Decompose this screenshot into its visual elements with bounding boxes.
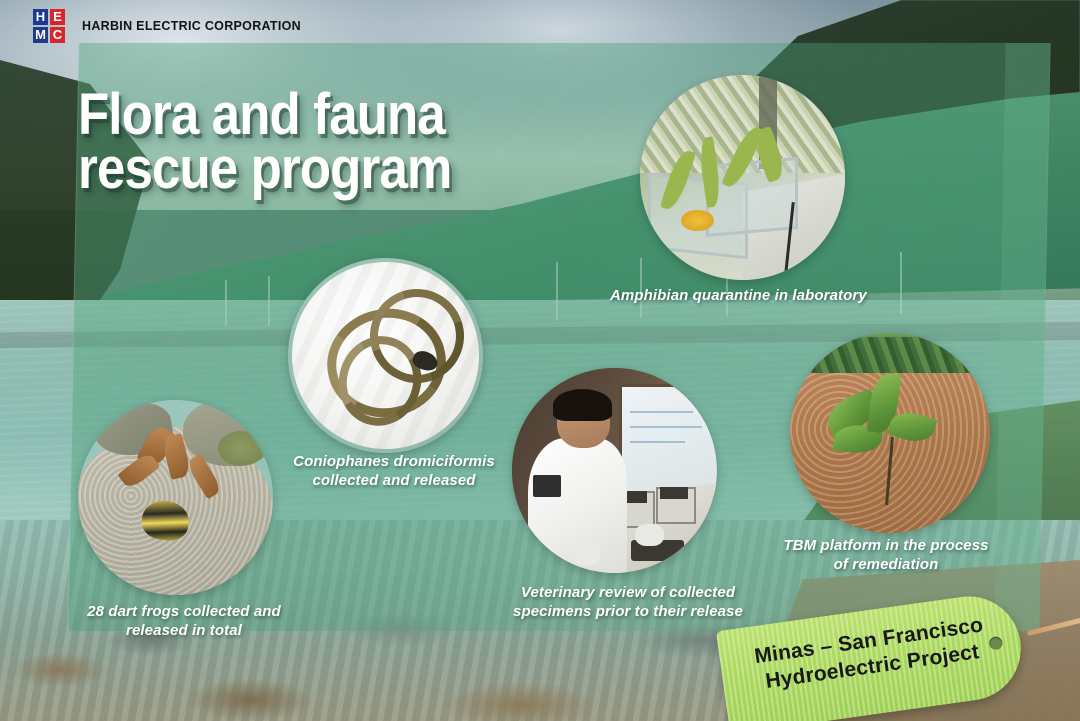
- dart-frog-photo: [78, 400, 273, 595]
- logo-letter: H: [33, 9, 48, 25]
- vet-gloved-hand: [574, 540, 601, 565]
- logo-cell-bottom-left: M: [33, 27, 48, 43]
- caption-snake: Coniophanes dromiciformis collected and …: [268, 452, 520, 490]
- lab-terrarium-tank: [706, 157, 798, 237]
- frog-moss: [218, 431, 265, 466]
- tag-label: Minas – San Francisco Hydroelectric Proj…: [742, 611, 999, 698]
- logo-letter: C: [50, 27, 65, 43]
- vet-badge: [533, 475, 562, 498]
- slide-canvas: H E M C HARBIN ELECTRIC CORPORATION Flor…: [0, 0, 1080, 721]
- whiteboard-writing: [630, 441, 685, 443]
- caption-amphibian-quarantine: Amphibian quarantine in laboratory: [610, 286, 910, 305]
- logo-cell-top-right: E: [50, 9, 65, 25]
- container-lid: [660, 487, 689, 499]
- whiteboard-writing: [630, 411, 694, 413]
- tbm-platform-seedling-photo: [790, 333, 990, 533]
- vet-whiteboard: [619, 384, 717, 497]
- page-title: Flora and fauna rescue program: [78, 88, 536, 196]
- vet-gloved-hand: [635, 524, 664, 547]
- brand-name: HARBIN ELECTRIC CORPORATION: [82, 19, 301, 33]
- caption-tbm-platform: TBM platform in the process of remediati…: [760, 536, 1012, 574]
- logo-cell-bottom-right: C: [50, 27, 65, 43]
- caption-veterinary-review: Veterinary review of collected specimens…: [488, 583, 768, 621]
- vet-hair: [553, 389, 612, 422]
- caption-dart-frogs: 28 dart frogs collected and released in …: [48, 602, 320, 640]
- amphibian-quarantine-photo: [640, 75, 845, 280]
- logo-letter: M: [33, 27, 48, 43]
- logo-letter: E: [50, 9, 65, 25]
- veterinary-review-photo: [512, 368, 717, 573]
- header-bar: H E M C HARBIN ELECTRIC CORPORATION: [0, 0, 1080, 43]
- seed-background-trees: [802, 337, 978, 377]
- lab-orchid-bloom: [681, 210, 714, 231]
- whiteboard-writing: [630, 426, 702, 428]
- logo-cell-top-left: H: [33, 9, 48, 25]
- snake-specimen-photo: [288, 258, 483, 453]
- harbin-electric-logo: H E M C: [33, 9, 65, 43]
